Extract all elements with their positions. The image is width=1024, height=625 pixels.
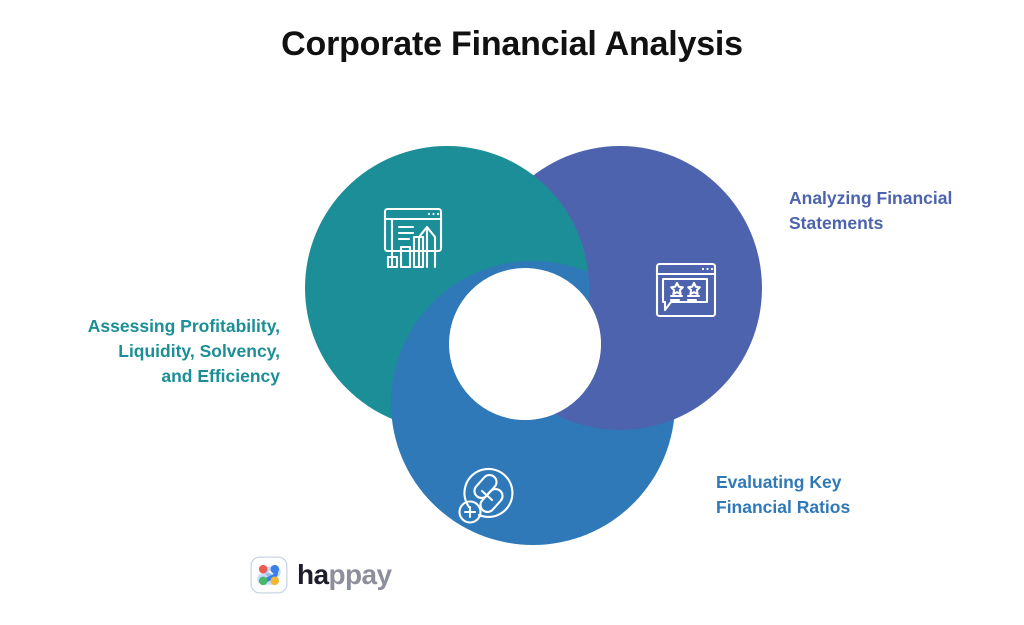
wordmark-light: ppay	[328, 559, 391, 590]
venn-label-ratios: Evaluating Key Financial Ratios	[716, 470, 946, 520]
happay-wordmark: happay	[297, 561, 391, 589]
label-line: Analyzing Financial	[789, 186, 1015, 211]
label-line: Evaluating Key	[716, 470, 946, 495]
label-line: Liquidity, Solvency,	[18, 339, 280, 364]
infographic-canvas: Corporate Financial Analysis	[0, 0, 1024, 625]
label-line: Assessing Profitability,	[18, 314, 280, 339]
label-line: and Efficiency	[18, 364, 280, 389]
venn-diagram	[0, 0, 1024, 625]
venn-center-hole	[449, 268, 601, 420]
brand-logo[interactable]: happay	[250, 556, 391, 594]
label-line: Financial Ratios	[716, 495, 946, 520]
venn-label-statements: Analyzing Financial Statements	[789, 186, 1015, 236]
venn-label-profitability: Assessing Profitability, Liquidity, Solv…	[18, 314, 280, 389]
happay-logo-mark	[250, 556, 288, 594]
wordmark-dark: ha	[297, 559, 328, 590]
label-line: Statements	[789, 211, 1015, 236]
